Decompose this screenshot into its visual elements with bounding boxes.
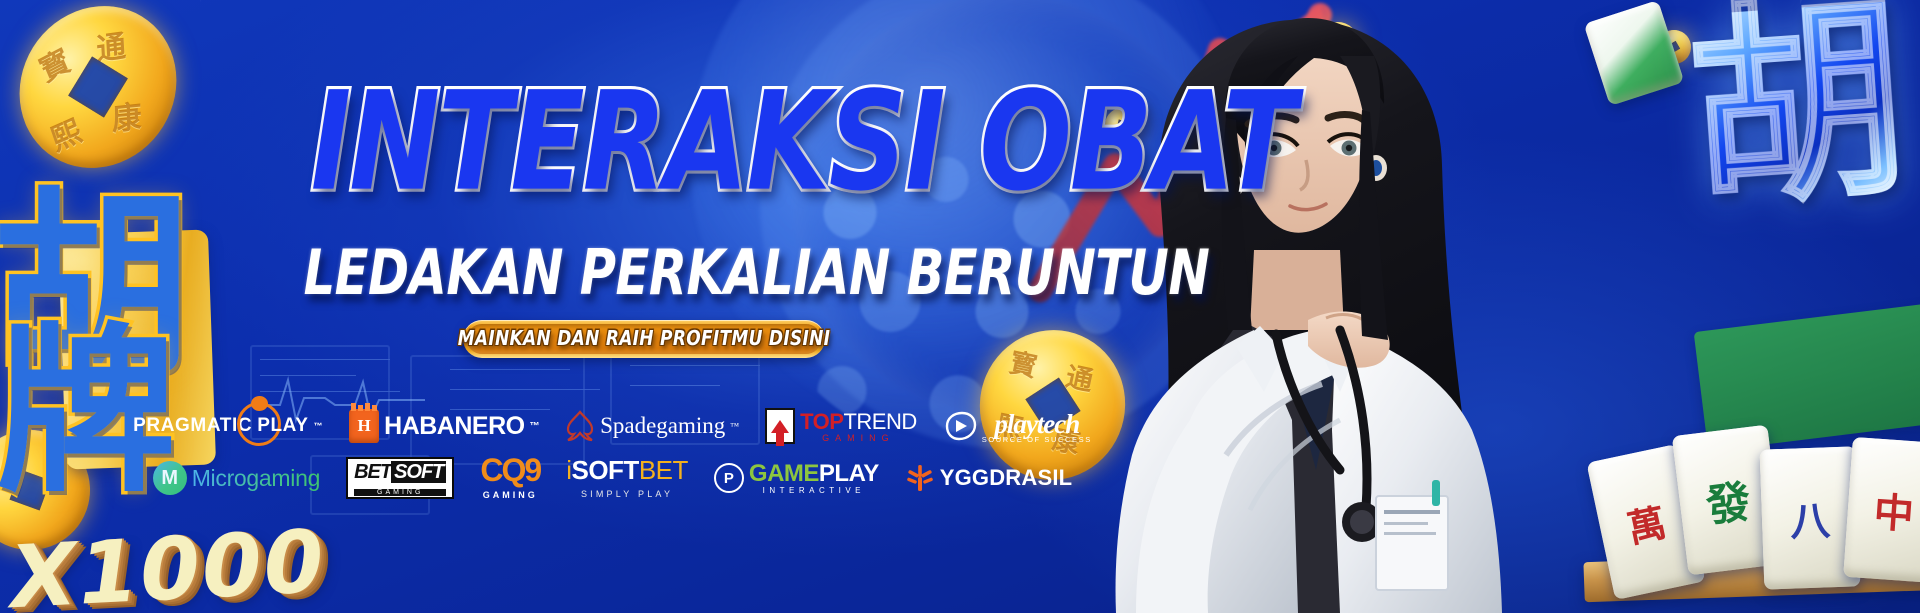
logo-microgaming[interactable]: M Microgaming (153, 461, 320, 495)
provider-row-1: PRAGMATIC PLAY ™ H HABANERO ™ Spadegamin… (245, 400, 980, 452)
page-subtitle: LEDAKAN PERKALIAN BERUNTUN (304, 237, 1017, 309)
playtech-swoosh-icon (943, 411, 977, 441)
headline-block: INTERAKSI OBAT LEDAKAN PERKALIAN BERUNTU… (300, 74, 1020, 302)
provider-row-2: M Microgaming BETSOFT GAMING CQ9 GAMING … (245, 452, 980, 504)
logo-habanero-text: HABANERO (384, 412, 524, 441)
cta-button-inner: MAINKAN DAN RAIH PROFITMU DISINI (467, 324, 821, 354)
microgaming-mark-icon: M (153, 461, 187, 495)
logo-betsoft-text-gaming: GAMING (354, 489, 446, 496)
logo-gameplay-interactive[interactable]: P GAMEPLAY INTERACTIVE (714, 462, 879, 495)
chinese-character-pai: 牌 (0, 330, 170, 496)
gameplay-mark-icon: P (714, 463, 744, 493)
logo-isoftbet-text-soft: SOFT (571, 455, 638, 485)
logo-toptrend-text-top: TOP (800, 409, 843, 434)
logo-pragmatic-play-text2: PLAY (257, 415, 308, 437)
trademark-icon: ™ (530, 421, 540, 432)
logo-gameplay-text-play: PLAY (819, 460, 879, 487)
habanero-crown-icon: H (349, 409, 379, 443)
logo-yggdrasil[interactable]: YGGDRASIL (905, 463, 1073, 493)
logo-gameplay-tagline: INTERACTIVE (763, 486, 865, 495)
logo-cq9-gaming[interactable]: CQ9 GAMING (480, 456, 540, 500)
logo-isoftbet[interactable]: iSOFTBET SIMPLY PLAY (566, 457, 688, 499)
mahjong-tile: 中 (1843, 437, 1920, 583)
chinese-character-hu-3d: 胡 (1684, 1, 1912, 209)
logo-spadegaming[interactable]: Spadegaming ™ (565, 410, 739, 442)
logo-betsoft-text-soft: SOFT (391, 461, 446, 483)
logo-cq9-text: CQ9 (480, 456, 540, 485)
multiplier-badge: X1000 (8, 512, 328, 613)
logo-pragmatic-play[interactable]: PRAGMATIC PLAY ™ (133, 415, 323, 437)
yggdrasil-tree-icon (905, 463, 935, 493)
logo-cq9-text-gaming: GAMING (483, 490, 538, 500)
logo-playtech-tagline: SOURCE OF SUCCESS (982, 435, 1092, 444)
logo-toptrend-text-bottom: GAMING (822, 433, 895, 443)
promo-banner: 寳 通 熙 康 寳 通 熙 康 胡 牌 X1000 胡 萬 發 八 中 (0, 0, 1920, 613)
logo-gameplay-text-game: GAME (749, 460, 819, 487)
logo-pragmatic-play-text: PRAGMATIC (133, 415, 252, 437)
trademark-icon: ™ (730, 421, 739, 431)
cta-button[interactable]: MAINKAN DAN RAIH PROFITMU DISINI (463, 320, 825, 358)
toptrend-arrow-icon (765, 408, 795, 444)
logo-spadegaming-text: Spadegaming (600, 413, 725, 439)
logo-toptrend-text-trend: TREND (843, 409, 916, 434)
logo-microgaming-text: Microgaming (192, 465, 320, 492)
page-title: INTERAKSI OBAT (311, 74, 1009, 211)
logo-habanero[interactable]: H HABANERO ™ (349, 409, 539, 443)
trademark-icon: ™ (314, 421, 324, 431)
cta-button-label: MAINKAN DAN RAIH PROFITMU DISINI (458, 327, 831, 351)
logo-yggdrasil-text: YGGDRASIL (940, 465, 1073, 491)
logo-betsoft-text-bet: BET (354, 461, 391, 483)
logo-isoftbet-tagline: SIMPLY PLAY (581, 489, 673, 499)
spade-icon (565, 410, 595, 442)
logo-playtech[interactable]: playtech SOURCE OF SUCCESS (943, 409, 1092, 444)
logo-isoftbet-text-bet: BET (639, 455, 688, 485)
logo-betsoft[interactable]: BETSOFT GAMING (346, 457, 454, 499)
provider-logos: PRAGMATIC PLAY ™ H HABANERO ™ Spadegamin… (245, 400, 980, 504)
logo-toptrend-gaming[interactable]: TOPTREND GAMING (765, 408, 917, 444)
